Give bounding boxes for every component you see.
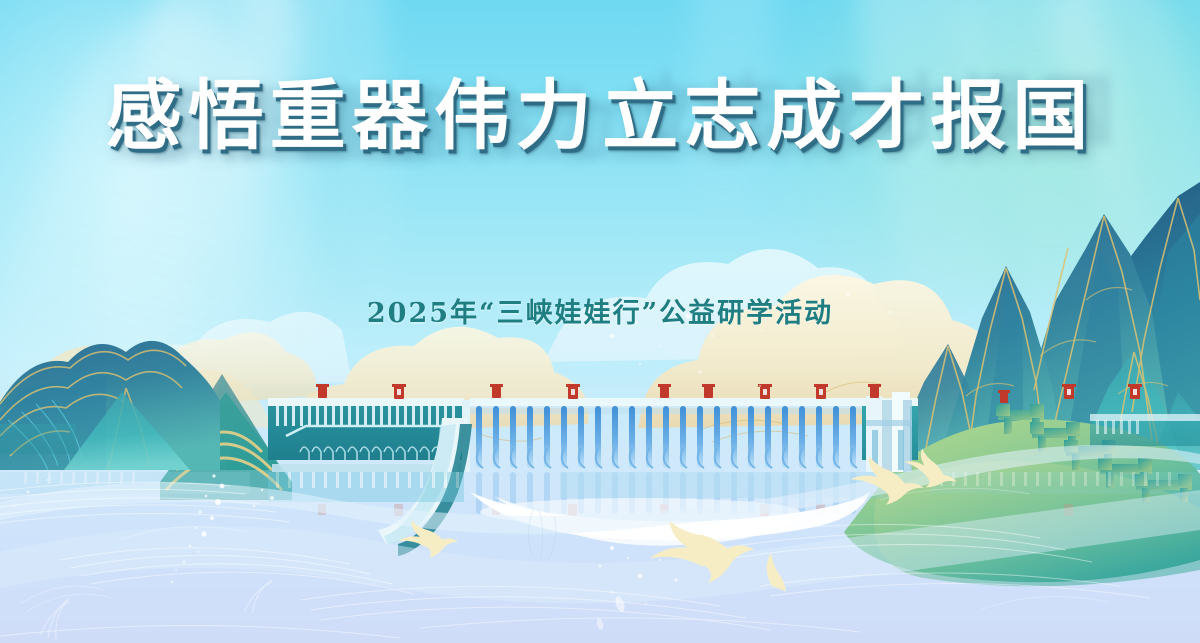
title-line1: 感悟重器伟力 <box>106 78 598 154</box>
title-block: 感悟重器伟力 感悟重器伟力 立志成才报国 立志成才报国 <box>0 64 1200 154</box>
title-line2: 立志成才报国 <box>602 78 1094 154</box>
river-water <box>0 445 1200 643</box>
powerhouse-towers <box>866 392 912 472</box>
subtitle: 2025年“三峡娃娃行”公益研学活动 <box>0 291 1200 330</box>
promotional-banner: 感悟重器伟力 感悟重器伟力 立志成才报国 立志成才报国 2025年“三峡娃娃行”… <box>0 0 1200 643</box>
water-grass <box>40 580 272 640</box>
